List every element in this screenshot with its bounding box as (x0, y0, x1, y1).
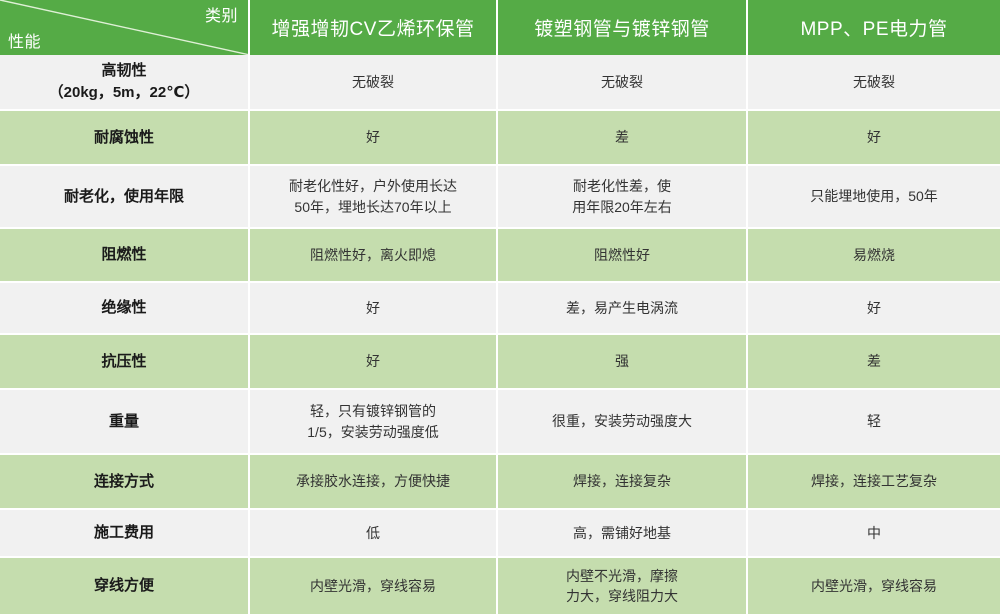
row-label: 阻燃性 (0, 229, 250, 281)
comparison-table: 类别 性能 增强增韧CV乙烯环保管 镀塑钢管与镀锌钢管 MPP、PE电力管 高韧… (0, 0, 1000, 611)
header-category-label: 类别 (205, 2, 238, 26)
row-cell-col1: 耐老化性好，户外使用长达 50年，埋地长达70年以上 (250, 166, 498, 227)
row-cell-col2: 很重，安装劳动强度大 (498, 390, 748, 453)
row-cell-col2: 耐老化性差，使 用年限20年左右 (498, 166, 748, 227)
table-header-row: 类别 性能 增强增韧CV乙烯环保管 镀塑钢管与镀锌钢管 MPP、PE电力管 (0, 0, 1000, 55)
row-cell-col3: 好 (748, 283, 1000, 333)
row-label: 高韧性 （20kg，5m，22℃） (0, 55, 250, 109)
row-cell-col2: 阻燃性好 (498, 229, 748, 281)
row-cell-col1: 低 (250, 510, 498, 556)
row-cell-col1: 承接胶水连接，方便快捷 (250, 455, 498, 508)
row-cell-col3: 中 (748, 510, 1000, 556)
row-cell-col2: 差，易产生电涡流 (498, 283, 748, 333)
row-label: 抗压性 (0, 335, 250, 388)
row-label: 重量 (0, 390, 250, 453)
row-cell-col3: 轻 (748, 390, 1000, 453)
row-cell-col1: 好 (250, 335, 498, 388)
row-cell-col3: 内壁光滑，穿线容易 (748, 558, 1000, 614)
row-cell-col3: 焊接，连接工艺复杂 (748, 455, 1000, 508)
row-cell-col3: 易燃烧 (748, 229, 1000, 281)
row-cell-col1: 轻，只有镀锌钢管的 1/5，安装劳动强度低 (250, 390, 498, 453)
row-cell-col1: 好 (250, 111, 498, 164)
table-body: 高韧性 （20kg，5m，22℃） 无破裂 无破裂 无破裂 耐腐蚀性 好 差 好… (0, 55, 1000, 614)
row-cell-col1: 内壁光滑，穿线容易 (250, 558, 498, 614)
row-cell-col2: 差 (498, 111, 748, 164)
row-cell-col1: 好 (250, 283, 498, 333)
table-row: 耐腐蚀性 好 差 好 (0, 111, 1000, 166)
header-corner-cell: 类别 性能 (0, 0, 250, 55)
row-cell-col2: 内壁不光滑，摩擦 力大，穿线阻力大 (498, 558, 748, 614)
row-cell-col3: 差 (748, 335, 1000, 388)
row-label: 耐腐蚀性 (0, 111, 250, 164)
header-column-1: 增强增韧CV乙烯环保管 (250, 0, 498, 55)
table-row: 阻燃性 阻燃性好，离火即熄 阻燃性好 易燃烧 (0, 229, 1000, 283)
row-cell-col2: 焊接，连接复杂 (498, 455, 748, 508)
row-cell-col1: 阻燃性好，离火即熄 (250, 229, 498, 281)
table-row: 绝缘性 好 差，易产生电涡流 好 (0, 283, 1000, 335)
row-cell-col3: 好 (748, 111, 1000, 164)
row-label: 连接方式 (0, 455, 250, 508)
row-cell-col2: 强 (498, 335, 748, 388)
row-cell-col3: 只能埋地使用，50年 (748, 166, 1000, 227)
row-cell-col1: 无破裂 (250, 55, 498, 109)
row-label: 绝缘性 (0, 283, 250, 333)
row-label: 施工费用 (0, 510, 250, 556)
header-performance-label: 性能 (8, 28, 41, 52)
row-cell-col2: 高，需铺好地基 (498, 510, 748, 556)
row-label: 耐老化，使用年限 (0, 166, 250, 227)
table-row: 连接方式 承接胶水连接，方便快捷 焊接，连接复杂 焊接，连接工艺复杂 (0, 455, 1000, 510)
table-row: 施工费用 低 高，需铺好地基 中 (0, 510, 1000, 558)
table-row: 穿线方便 内壁光滑，穿线容易 内壁不光滑，摩擦 力大，穿线阻力大 内壁光滑，穿线… (0, 558, 1000, 614)
table-row: 高韧性 （20kg，5m，22℃） 无破裂 无破裂 无破裂 (0, 55, 1000, 111)
row-label: 穿线方便 (0, 558, 250, 614)
header-column-2: 镀塑钢管与镀锌钢管 (498, 0, 748, 55)
table-row: 抗压性 好 强 差 (0, 335, 1000, 390)
table-row: 重量 轻，只有镀锌钢管的 1/5，安装劳动强度低 很重，安装劳动强度大 轻 (0, 390, 1000, 455)
row-cell-col2: 无破裂 (498, 55, 748, 109)
row-cell-col3: 无破裂 (748, 55, 1000, 109)
table-row: 耐老化，使用年限 耐老化性好，户外使用长达 50年，埋地长达70年以上 耐老化性… (0, 166, 1000, 229)
header-column-3: MPP、PE电力管 (748, 0, 1000, 55)
